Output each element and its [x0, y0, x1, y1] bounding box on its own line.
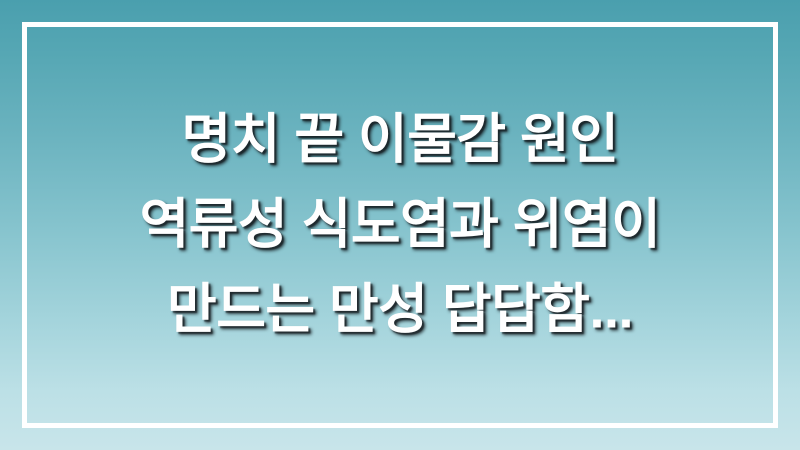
- title-line-3: 만드는 만성 답답함...: [40, 268, 760, 353]
- title-line-1: 명치 끝 이물감 원인: [40, 98, 760, 183]
- thumbnail-card: 명치 끝 이물감 원인 역류성 식도염과 위염이 만드는 만성 답답함...: [0, 0, 800, 450]
- title-block: 명치 끝 이물감 원인 역류성 식도염과 위염이 만드는 만성 답답함...: [0, 98, 800, 353]
- title-line-2: 역류성 식도염과 위염이: [40, 183, 760, 268]
